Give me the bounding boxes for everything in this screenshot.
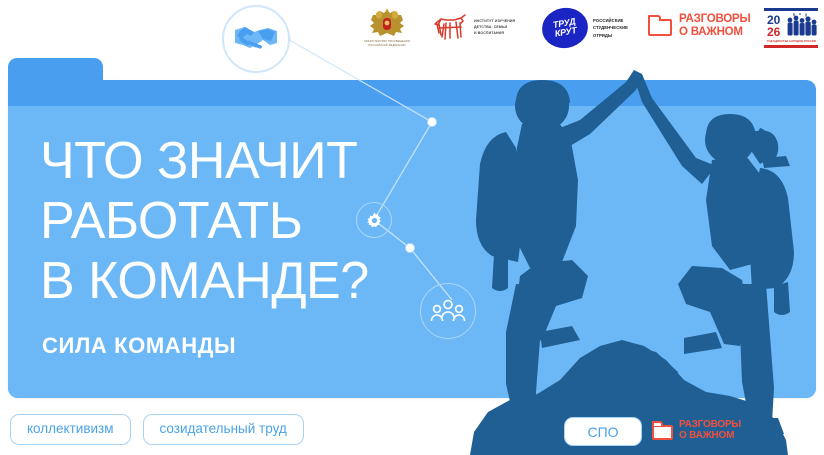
ministry-emblem: МИНИСТЕРСТВО ПРОСВЕЩЕНИЯ РОССИЙСКОЙ ФЕДЕ…	[356, 6, 418, 47]
crowd-silhouette-icon	[785, 13, 817, 39]
hikers-highfive-silhouette	[430, 40, 824, 455]
gear-icon	[365, 211, 384, 230]
year-caption: ГОД ЕДИНСТВА НАРОДОВ РОССИИ	[767, 40, 816, 44]
page-subtitle: СИЛА КОМАНДЫ	[42, 333, 236, 359]
page-title: ЧТО ЗНАЧИТ РАБОТАТЬ В КОМАНДЕ?	[40, 131, 369, 311]
institute-logo: ИНСТИТУТ ИЗУЧЕНИЯ ДЕТСТВА, СЕМЬИ И ВОСПИ…	[432, 11, 515, 45]
tag-sozidatelnyi-trud[interactable]: созидательный труд	[143, 414, 304, 445]
tag-list: коллективизм созидательный труд	[10, 414, 304, 445]
razgovory-text: РАЗГОВОРЫ О ВАЖНОМ	[679, 419, 741, 441]
ministry-caption: МИНИСТЕРСТВО ПРОСВЕЩЕНИЯ РОССИЙСКОЙ ФЕДЕ…	[356, 40, 418, 47]
razgovory-text: РАЗГОВОРЫ О ВАЖНОМ	[679, 13, 751, 38]
razgovory-o-vazhnom-logo-footer: РАЗГОВОРЫ О ВАЖНОМ	[652, 419, 741, 441]
trud-krut-ellipse: ТРУД КРУТ	[539, 4, 591, 51]
rso-text: РОССИЙСКИЕ СТУДЕНЧЕСКИЕ ОТРЯДЫ	[593, 17, 628, 39]
people-group-node	[420, 283, 476, 339]
spo-button[interactable]: СПО	[564, 417, 642, 446]
poster-stage: МИНИСТЕРСТВО ПРОСВЕЩЕНИЯ РОССИЙСКОЙ ФЕДЕ…	[0, 0, 824, 455]
double-headed-eagle-icon	[367, 6, 407, 38]
razgovory-o-vazhnom-logo: РАЗГОВОРЫ О ВАЖНОМ	[648, 13, 751, 38]
tag-kollektivizm[interactable]: коллективизм	[10, 414, 131, 445]
people-group-icon	[430, 298, 466, 324]
gear-node	[356, 202, 392, 238]
year-bottom-number: 26	[767, 27, 780, 38]
institute-text: ИНСТИТУТ ИЗУЧЕНИЯ ДЕТСТВА, СЕМЬИ И ВОСПИ…	[474, 19, 515, 37]
title-line-2: РАБОТАТЬ	[40, 191, 369, 251]
title-line-1: ЧТО ЗНАЧИТ	[40, 131, 369, 191]
horse-line-icon	[432, 11, 468, 45]
folder-icon	[652, 421, 673, 440]
folder-icon	[648, 15, 672, 36]
logo-bar: МИНИСТЕРСТВО ПРОСВЕЩЕНИЯ РОССИЙСКОЙ ФЕДЕ…	[0, 0, 824, 58]
year-2026-badge: 20 26 ГОД ЕДИНСТВА НАРОДОВ РОССИИ	[764, 8, 818, 48]
trud-krut-logo: ТРУД КРУТ РОССИЙСКИЕ СТУДЕНЧЕСКИЕ ОТРЯДЫ	[542, 8, 628, 48]
title-line-3: В КОМАНДЕ?	[40, 251, 369, 311]
krut-word: КРУТ	[554, 26, 577, 39]
